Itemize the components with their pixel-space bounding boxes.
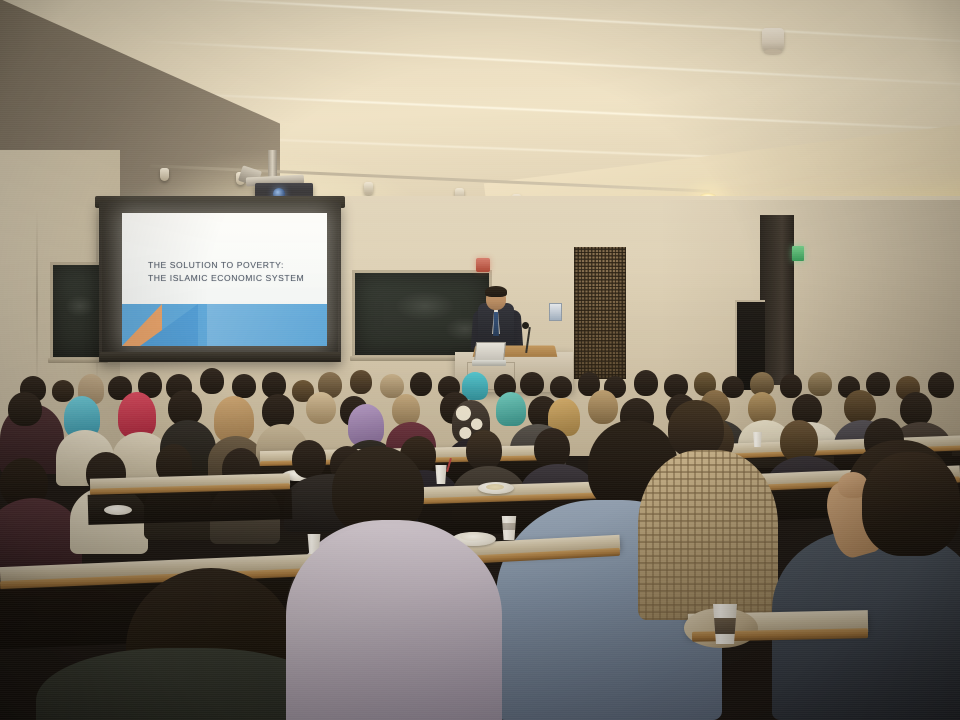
chalkboard-left <box>50 262 104 360</box>
foreground-head-right <box>862 452 960 556</box>
microphone-icon <box>522 322 529 329</box>
wall-notice <box>549 303 562 321</box>
presentation-slide: THE SOLUTION TO POVERTY: THE ISLAMIC ECO… <box>122 213 327 346</box>
slide-title-line2: THE ISLAMIC ECONOMIC SYSTEM <box>148 272 318 285</box>
audience-head <box>292 440 326 478</box>
audience-head <box>844 390 876 424</box>
audience-shoulders-checked-shirt <box>638 450 778 620</box>
audience-head <box>808 372 832 396</box>
laptop-keyboard <box>472 360 506 366</box>
audience-head <box>550 376 572 398</box>
audience-head <box>466 430 502 470</box>
napkin <box>460 532 486 541</box>
foreground-shoulders-lavender <box>286 524 502 720</box>
audience-head <box>780 374 802 398</box>
paper-cup <box>500 516 518 540</box>
audience-headscarf-red <box>118 392 156 438</box>
audience-head <box>900 392 932 426</box>
slide-accent-band <box>122 304 327 346</box>
audience-head <box>52 380 74 402</box>
smoke-detector-icon <box>762 28 784 52</box>
projection-screen: THE SOLUTION TO POVERTY: THE ISLAMIC ECO… <box>99 202 341 362</box>
audience-head <box>232 374 256 398</box>
track-spot-light <box>364 182 373 195</box>
slide-title-line1: THE SOLUTION TO POVERTY: <box>148 259 318 272</box>
green-exit-sign-icon <box>792 246 804 261</box>
audience-head <box>410 372 432 396</box>
red-fire-sign-icon <box>476 258 490 272</box>
audience-head <box>634 370 658 396</box>
audience-head <box>520 372 544 396</box>
audience-head <box>928 372 954 398</box>
audience-head <box>588 390 618 424</box>
audience-head <box>392 394 420 426</box>
speaker-hair <box>485 286 507 297</box>
structural-pillar <box>760 215 794 385</box>
audience-head <box>534 428 570 468</box>
audience-headscarf <box>462 372 488 400</box>
audience-head <box>306 392 336 424</box>
audience-head <box>866 372 890 396</box>
track-spot-light <box>160 168 169 181</box>
audience-head <box>8 392 42 426</box>
audience-head <box>262 394 294 428</box>
audience-headscarf-teal <box>496 392 526 426</box>
audience-head <box>200 368 224 394</box>
projection-screen-bottom-bar <box>100 352 340 362</box>
lecture-hall-photo: THE SOLUTION TO POVERTY: THE ISLAMIC ECO… <box>0 0 960 720</box>
acoustic-wood-panel <box>574 247 626 379</box>
paper-plate <box>104 505 132 515</box>
laptop-screen <box>474 342 506 362</box>
plate-food <box>486 484 504 490</box>
slide-title-text: THE SOLUTION TO POVERTY: THE ISLAMIC ECO… <box>148 259 318 286</box>
audience-head <box>350 370 372 394</box>
